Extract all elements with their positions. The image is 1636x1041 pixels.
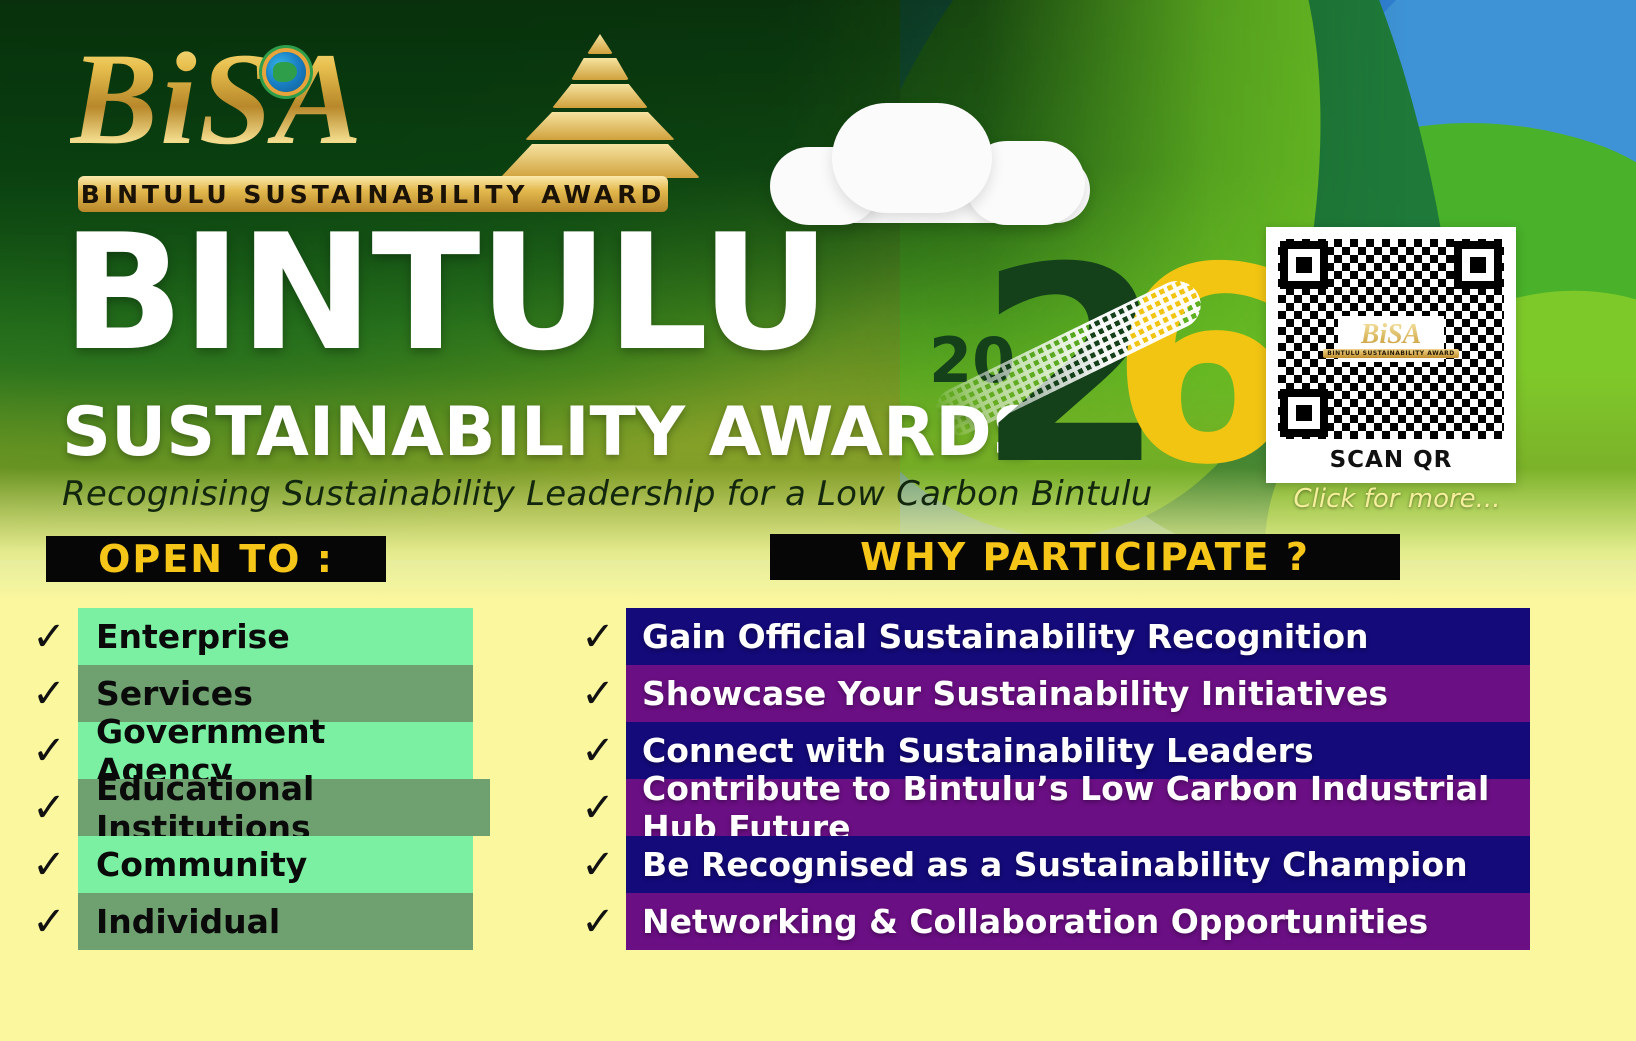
- list-item: ✓Networking & Collaboration Opportunitie…: [570, 893, 1530, 950]
- qr-click-for-more-link[interactable]: Click for more...: [1266, 484, 1528, 514]
- list-item: ✓Showcase Your Sustainability Initiative…: [570, 665, 1530, 722]
- qr-code-image[interactable]: BiSA BINTULU SUSTAINABILITY AWARD: [1278, 239, 1504, 439]
- why-participate-item-label: Showcase Your Sustainability Initiatives: [626, 665, 1530, 722]
- list-item: ✓Community: [20, 836, 490, 893]
- page-title: BINTULU: [62, 218, 829, 368]
- why-participate-item-label: Networking & Collaboration Opportunities: [626, 893, 1530, 950]
- check-icon: ✓: [20, 608, 78, 665]
- check-icon: ✓: [20, 779, 78, 836]
- check-icon: ✓: [20, 893, 78, 950]
- qr-finder-top-right: [1454, 241, 1502, 289]
- open-to-header: OPEN TO :: [46, 536, 386, 582]
- list-item: ✓Gain Official Sustainability Recognitio…: [570, 608, 1530, 665]
- list-item: ✓Contribute to Bintulu’s Low Carbon Indu…: [570, 779, 1530, 836]
- open-to-item-label: Educational Institutions: [78, 779, 490, 836]
- qr-embedded-logo: BiSA BINTULU SUSTAINABILITY AWARD: [1338, 316, 1444, 362]
- open-to-item-label: Individual: [78, 893, 473, 950]
- open-to-list: ✓Enterprise✓Services✓Government Agency✓E…: [20, 608, 490, 950]
- pyramid-icon: [500, 28, 700, 178]
- check-icon: ✓: [20, 722, 78, 779]
- poster-canvas: BiSA BINTULU SUSTAINABILITY AWARD BINTUL…: [0, 0, 1636, 1041]
- check-icon: ✓: [570, 722, 626, 779]
- check-icon: ✓: [570, 779, 626, 836]
- why-participate-list: ✓Gain Official Sustainability Recognitio…: [570, 608, 1530, 950]
- check-icon: ✓: [20, 665, 78, 722]
- open-to-header-text: OPEN TO :: [98, 537, 334, 581]
- qr-logo-wordmark: BiSA: [1361, 321, 1422, 349]
- list-item: ✓Be Recognised as a Sustainability Champ…: [570, 836, 1530, 893]
- why-participate-header-text: WHY PARTICIPATE ?: [860, 535, 1310, 579]
- check-icon: ✓: [20, 836, 78, 893]
- check-icon: ✓: [570, 836, 626, 893]
- qr-logo-ribbon-text: BINTULU SUSTAINABILITY AWARD: [1323, 349, 1458, 358]
- bisa-logo[interactable]: BiSA BINTULU SUSTAINABILITY AWARD: [70, 24, 670, 214]
- year-graphic: 2 6 20: [915, 238, 1215, 498]
- list-item: ✓Enterprise: [20, 608, 490, 665]
- qr-finder-top-left: [1280, 241, 1328, 289]
- open-to-item-label: Community: [78, 836, 473, 893]
- qr-finder-bottom-left: [1280, 389, 1328, 437]
- list-item: ✓Individual: [20, 893, 490, 950]
- why-participate-item-label: Gain Official Sustainability Recognition: [626, 608, 1530, 665]
- check-icon: ✓: [570, 665, 626, 722]
- why-participate-item-label: Be Recognised as a Sustainability Champi…: [626, 836, 1530, 893]
- why-participate-item-label: Contribute to Bintulu’s Low Carbon Indus…: [626, 779, 1530, 836]
- page-subtitle: SUSTAINABILITY AWARDS: [62, 398, 1041, 468]
- qr-scan-label: SCAN QR: [1278, 439, 1504, 481]
- qr-code-card[interactable]: BiSA BINTULU SUSTAINABILITY AWARD SCAN Q…: [1266, 227, 1516, 483]
- open-to-item-label: Enterprise: [78, 608, 473, 665]
- list-item: ✓Educational Institutions: [20, 779, 490, 836]
- check-icon: ✓: [570, 608, 626, 665]
- check-icon: ✓: [570, 893, 626, 950]
- globe-icon: [266, 52, 306, 92]
- why-participate-header: WHY PARTICIPATE ?: [770, 534, 1400, 580]
